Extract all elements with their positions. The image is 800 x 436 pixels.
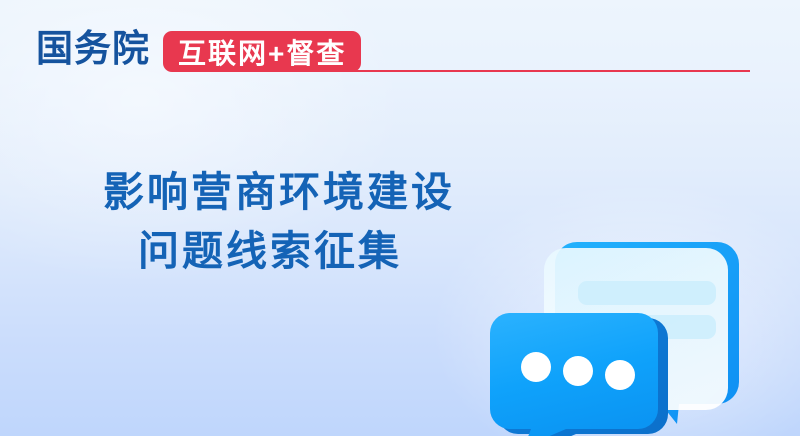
banner-root: 国务院 互联网+督查 影响营商环境建设 问题线索征集 xyxy=(0,0,800,436)
banner-header: 国务院 互联网+督查 xyxy=(0,0,800,86)
internet-plus-supervision-badge: 互联网+督查 xyxy=(163,31,361,72)
header-divider-rule xyxy=(352,70,750,72)
page-title-line-1: 影响营商环境建设 xyxy=(0,163,540,222)
page-title: 影响营商环境建设 问题线索征集 xyxy=(0,163,540,281)
speech-bubbles-illustration xyxy=(480,215,780,436)
page-title-line-2: 问题线索征集 xyxy=(0,222,540,281)
gov-council-label: 国务院 xyxy=(36,27,150,71)
